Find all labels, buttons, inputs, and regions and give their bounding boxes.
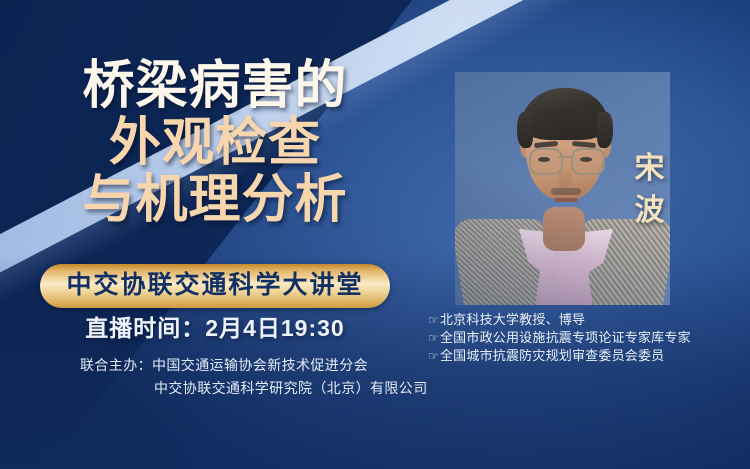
pointing-hand-icon: ☞ xyxy=(428,347,439,365)
headline-line-2: 外观检查 xyxy=(0,115,430,172)
series-banner: 中交协联交通科学大讲堂 xyxy=(40,264,389,308)
credential-text: 全国市政公用设施抗震专项论证专家库专家 xyxy=(440,329,691,347)
pointing-hand-icon: ☞ xyxy=(428,311,439,329)
credential-row: ☞ 全国城市抗震防灾规划审查委员会委员 xyxy=(428,347,746,365)
live-time: 直播时间：2月4日19:30 xyxy=(0,309,430,343)
credential-row: ☞ 北京科技大学教授、博导 xyxy=(428,311,746,329)
headline-line-1: 桥梁病害的 xyxy=(0,58,430,115)
headline-line-3: 与机理分析 xyxy=(0,172,430,229)
speaker-name-char-1: 宋 xyxy=(628,148,672,190)
organizers: 联合主办：中国交通运输协会新技术促进分会 中交协联交通科学研究院（北京）有限公司 xyxy=(80,354,440,400)
pointing-hand-icon: ☞ xyxy=(428,329,439,347)
webinar-poster: 宋 波 桥梁病害的 外观检查 与机理分析 中交协联交通科学大讲堂 直播时间：2月… xyxy=(0,0,750,469)
speaker-name: 宋 波 xyxy=(628,148,672,232)
series-banner-label: 中交协联交通科学大讲堂 xyxy=(66,270,363,300)
speaker-credentials: ☞ 北京科技大学教授、博导 ☞ 全国市政公用设施抗震专项论证专家库专家 ☞ 全国… xyxy=(428,311,746,365)
credential-text: 北京科技大学教授、博导 xyxy=(440,311,585,329)
poster-headline: 桥梁病害的 外观检查 与机理分析 xyxy=(0,58,430,229)
credential-row: ☞ 全国市政公用设施抗震专项论证专家库专家 xyxy=(428,329,746,347)
credential-text: 全国城市抗震防灾规划审查委员会委员 xyxy=(440,347,664,365)
organizer-line-2: 中交协联交通科学研究院（北京）有限公司 xyxy=(80,377,440,400)
series-banner-wrap: 中交协联交通科学大讲堂 xyxy=(0,264,430,308)
speaker-name-char-2: 波 xyxy=(628,190,672,232)
organizer-line-1: 联合主办：中国交通运输协会新技术促进分会 xyxy=(80,354,440,377)
